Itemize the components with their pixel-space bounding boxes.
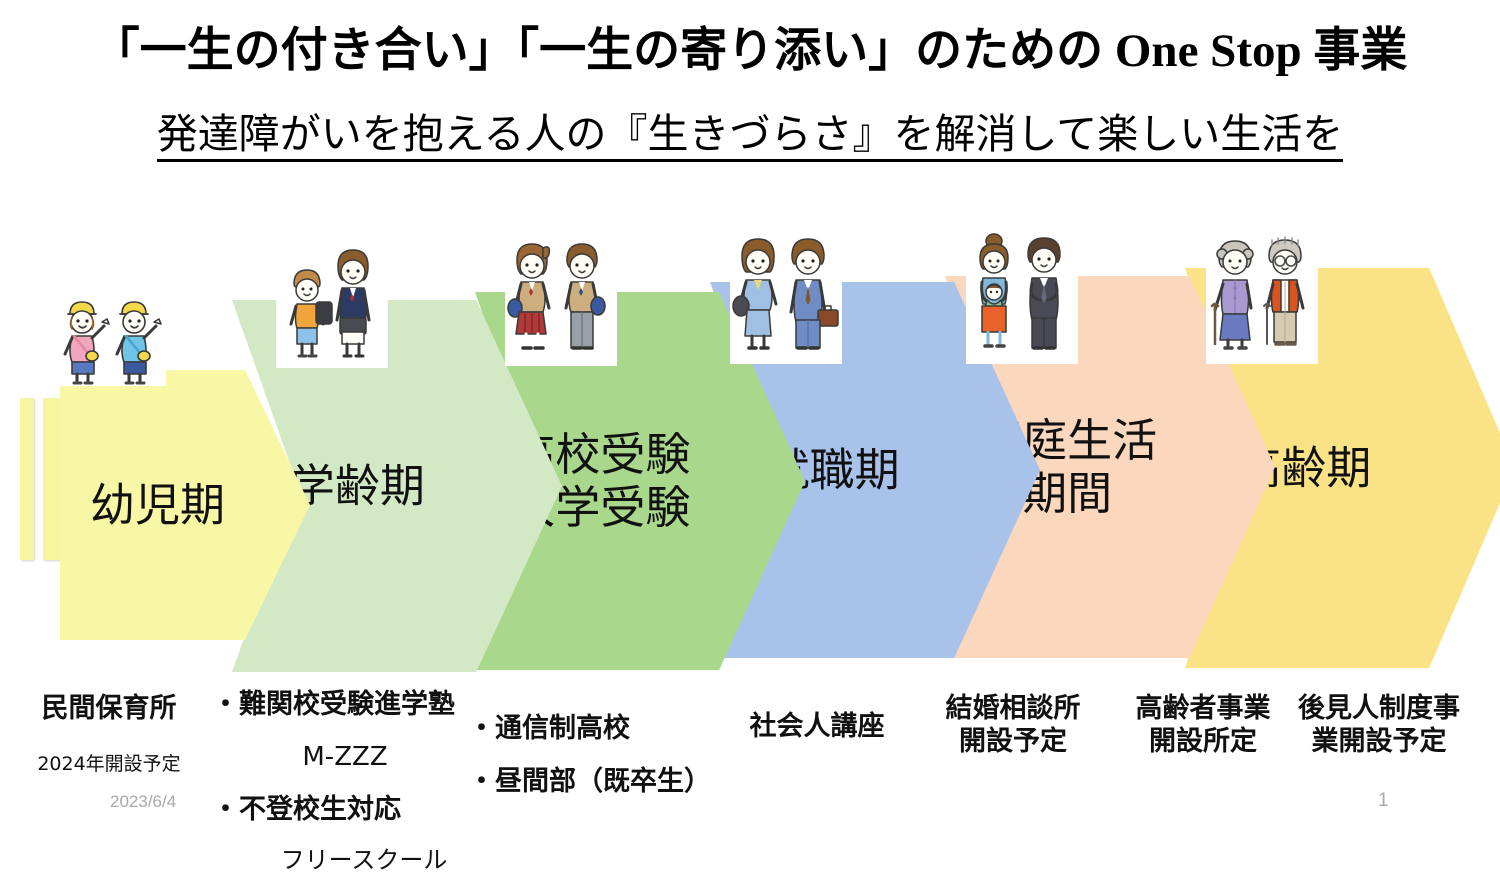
caption-korei: 高齢者事業 開設所定: [1118, 672, 1288, 779]
caption-youji: 民間保育所 2024年開設予定: [14, 672, 204, 797]
caption-juken: ・通信制高校 ・昼間部（既卒生）: [468, 692, 726, 818]
figure-high-school-students: [505, 232, 617, 366]
figure-business-adults: [730, 226, 842, 364]
figure-kindergarten-children: [36, 276, 166, 386]
page-subtitle: 発達障がいを抱える人の『生きづらさ』を解消して楽しい生活を: [0, 112, 1500, 157]
caption-gakurei-bullet-2: M-ZZZ: [212, 741, 478, 773]
caption-kouken-main: 後見人制度事 業開設予定: [1290, 692, 1468, 759]
footer-page-number: 1: [1378, 790, 1389, 812]
caption-kouken: 後見人制度事 業開設予定: [1290, 672, 1468, 779]
caption-shushoku-main: 社会人講座: [722, 710, 912, 743]
caption-gakurei-bullet-3: ・不登校生対応: [212, 793, 478, 826]
caption-gakurei: ・難関校受験進学塾 M-ZZZ ・不登校生対応 フリースクール: [212, 668, 478, 896]
high-school-students-icon: [505, 232, 617, 366]
caption-katei-main: 結婚相談所 開設予定: [920, 692, 1106, 759]
page-title: 「一生の付き合い」「一生の寄り添い」のための One Stop 事業: [0, 26, 1500, 77]
stripe-bar-1: [20, 398, 34, 560]
caption-gakurei-bullet-4: フリースクール: [250, 846, 478, 876]
family-with-baby-icon: [966, 226, 1078, 364]
page-subtitle-text: 発達障がいを抱える人の『生きづらさ』を解消して楽しい生活を: [157, 111, 1344, 162]
slide-canvas: 「一生の付き合い」「一生の寄り添い」のための One Stop 事業 発達障がい…: [0, 0, 1500, 844]
figure-elementary-child-and-parent: [276, 236, 388, 368]
figure-elderly-couple: [1206, 226, 1318, 364]
stripe-bar-2: [43, 398, 61, 560]
elementary-child-and-parent-icon: [276, 236, 388, 368]
caption-korei-main: 高齢者事業 開設所定: [1118, 692, 1288, 759]
caption-juken-bullet-2: ・昼間部（既卒生）: [468, 765, 726, 798]
caption-katei: 結婚相談所 開設予定: [920, 672, 1106, 779]
caption-shushoku: 社会人講座: [722, 690, 912, 763]
caption-youji-sub: 2024年開設予定: [14, 753, 204, 777]
figure-family-with-baby: [966, 226, 1078, 364]
kindergarten-children-icon: [36, 276, 166, 386]
footer-date: 2023/6/4: [110, 792, 176, 812]
caption-youji-main: 民間保育所: [14, 692, 204, 725]
caption-gakurei-bullet-1: ・難関校受験進学塾: [212, 688, 478, 721]
caption-juken-bullet-1: ・通信制高校: [468, 712, 726, 745]
elderly-couple-icon: [1206, 226, 1318, 364]
business-adults-icon: [730, 226, 842, 364]
stage-label-youji: 幼児期: [68, 478, 248, 531]
